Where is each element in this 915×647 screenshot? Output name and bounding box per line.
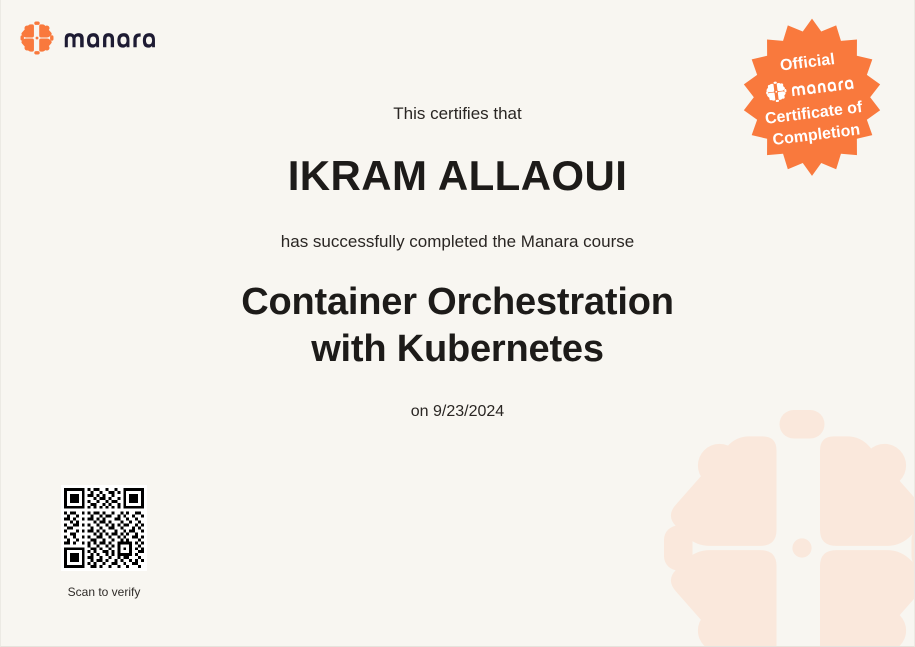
- course-title-line-2: with Kubernetes: [1, 326, 914, 374]
- brand-logo: [20, 21, 160, 55]
- certificate-body: This certifies that IKRAM ALLAOUI has su…: [1, 104, 914, 421]
- verification-block: Scan to verify: [61, 485, 147, 599]
- completion-statement: has successfully completed the Manara co…: [1, 232, 914, 252]
- badge-brand-wordmark: [789, 75, 856, 98]
- badge-brand-logo: [764, 72, 857, 104]
- certificate-page: Official: [0, 0, 915, 647]
- badge-manara-mark-icon: [764, 80, 787, 103]
- badge-official-label: Official: [779, 51, 836, 75]
- manara-flower-watermark-icon: [652, 398, 915, 647]
- certifies-label: This certifies that: [1, 104, 914, 124]
- completion-date: on 9/23/2024: [1, 402, 914, 421]
- recipient-name: IKRAM ALLAOUI: [1, 153, 914, 199]
- scan-to-verify-label: Scan to verify: [61, 585, 147, 599]
- qr-code-icon[interactable]: [61, 485, 147, 571]
- course-title: Container Orchestration with Kubernetes: [1, 279, 914, 374]
- course-title-line-1: Container Orchestration: [1, 279, 914, 327]
- brand-wordmark: [63, 27, 160, 49]
- manara-flower-mark-icon: [20, 21, 54, 55]
